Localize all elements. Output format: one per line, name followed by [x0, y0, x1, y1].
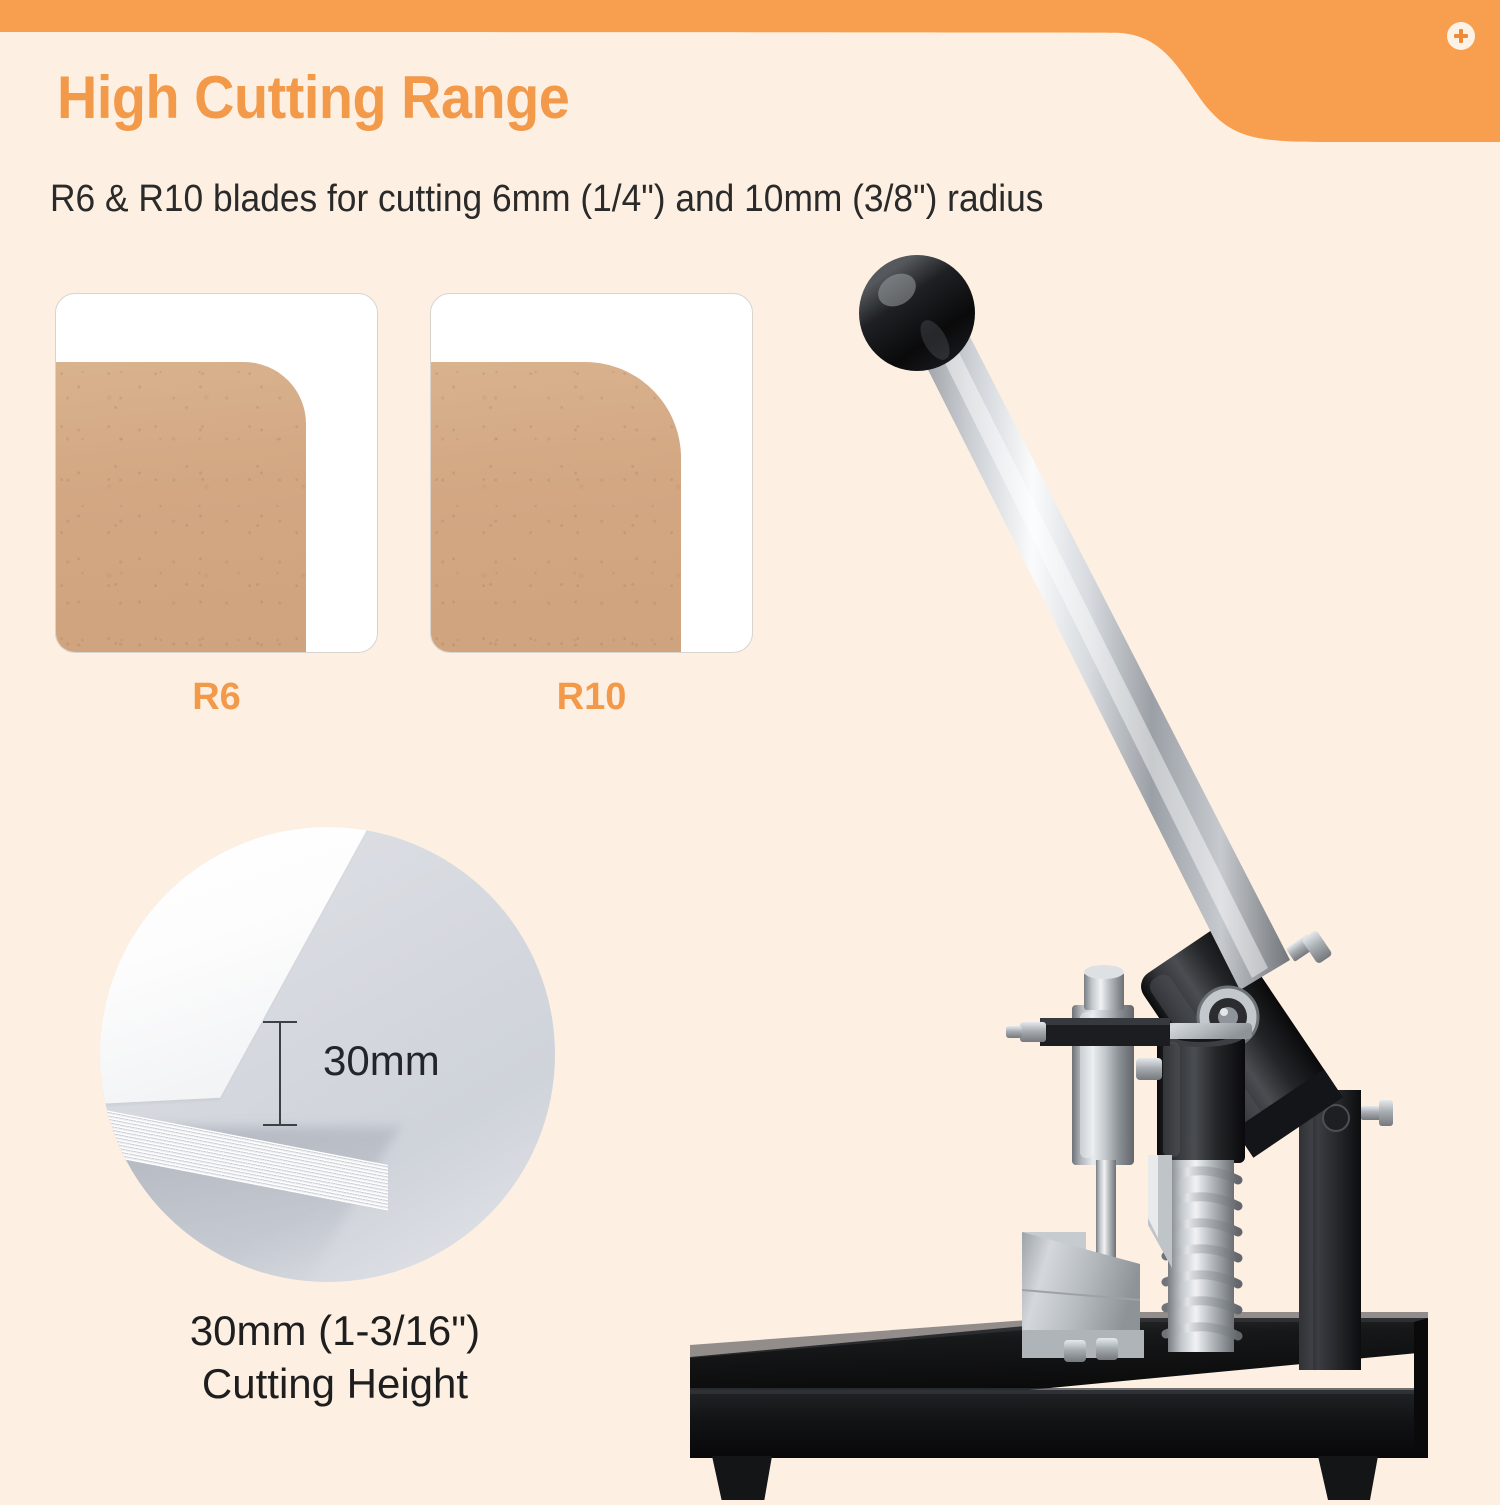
- cutting-blade: [1148, 1155, 1172, 1268]
- side-knurled-bolt: [1136, 1058, 1162, 1080]
- left-adjust-bolt: [1006, 1022, 1046, 1042]
- housing-bolt: [1286, 930, 1333, 965]
- chrome-lever-arm: [906, 290, 1290, 990]
- material-guide-plate: [1022, 1232, 1144, 1358]
- cross-clamp-bar: [1040, 1018, 1170, 1046]
- corner-rounder-machine: [0, 0, 1500, 1500]
- black-die-collar: [1157, 1023, 1245, 1163]
- coil-spring: [1166, 1160, 1238, 1352]
- ball-knob: [859, 255, 975, 371]
- black-support-column: [1299, 1090, 1361, 1370]
- column-pivot-bolt: [1361, 1100, 1393, 1126]
- rubber-feet: [712, 1456, 1378, 1500]
